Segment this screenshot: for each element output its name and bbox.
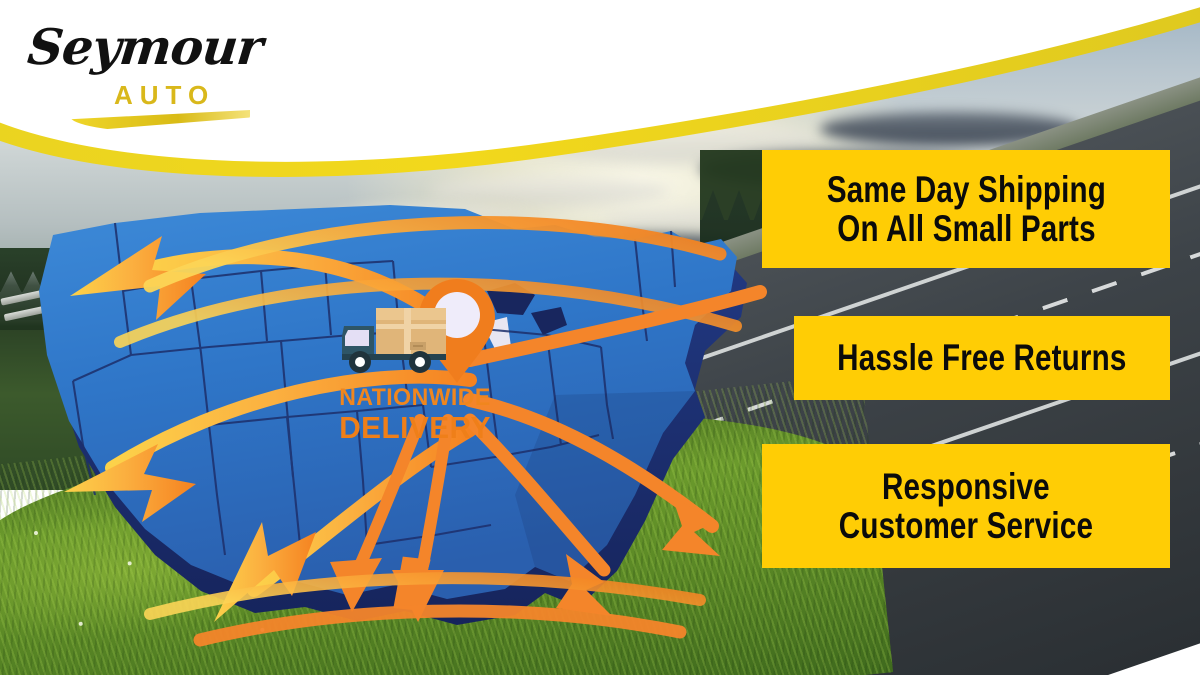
logo-wordmark: Seymour xyxy=(25,18,265,76)
panel3-line-1: Responsive xyxy=(882,467,1050,506)
benefit-panel-hassle-free-returns[interactable]: Hassle Free Returns xyxy=(794,316,1170,400)
caption-line-1: NATIONWIDE xyxy=(333,386,496,410)
caption-line-2: DELIVERY xyxy=(333,412,496,445)
benefit-panel-responsive-customer-service[interactable]: Responsive Customer Service xyxy=(762,444,1170,568)
brand-logo[interactable]: Seymour AUTO xyxy=(28,18,258,128)
panel3-line-2: Customer Service xyxy=(839,506,1093,545)
panel1-line-2: On All Small Parts xyxy=(837,209,1095,248)
promo-banner: Seymour AUTO xyxy=(0,0,1200,675)
benefit-panel-same-day-shipping[interactable]: Same Day Shipping On All Small Parts xyxy=(762,150,1170,268)
logo-subtitle: AUTO xyxy=(114,80,215,111)
panel1-line-1: Same Day Shipping xyxy=(826,170,1105,209)
panel2-line-1: Hassle Free Returns xyxy=(837,338,1126,377)
nationwide-delivery-caption: NATIONWIDE DELIVERY xyxy=(330,386,500,445)
delivery-truck-icon xyxy=(338,302,450,378)
